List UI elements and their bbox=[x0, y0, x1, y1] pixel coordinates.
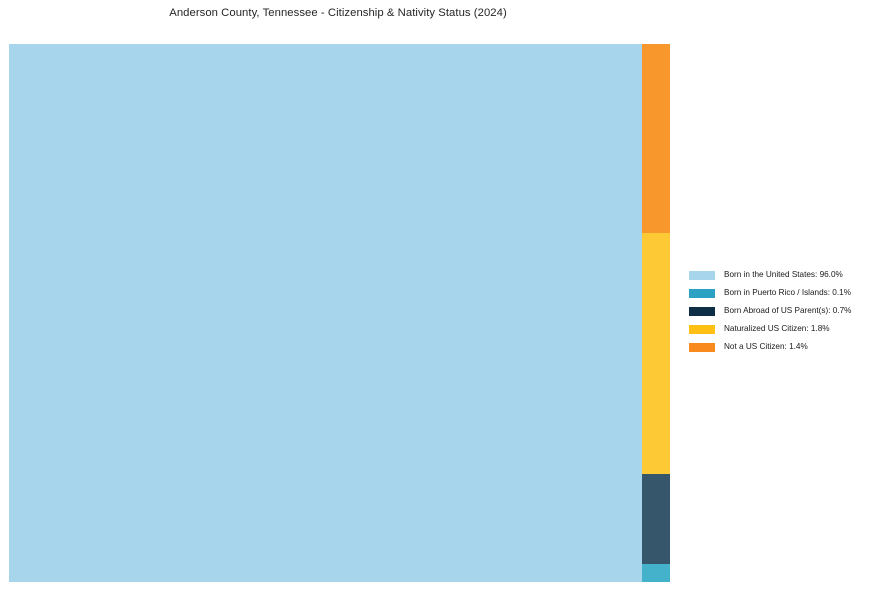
legend-swatch-icon bbox=[689, 307, 715, 316]
legend-item[interactable]: Born in the United States: 96.0% bbox=[689, 266, 881, 284]
treemap-tile[interactable] bbox=[9, 44, 642, 582]
treemap-chart-figure: Anderson County, Tennessee - Citizenship… bbox=[0, 0, 889, 590]
treemap-tile[interactable] bbox=[642, 474, 670, 564]
legend-item-label: Born Abroad of US Parent(s): 0.7% bbox=[724, 307, 851, 315]
treemap-tile[interactable] bbox=[642, 44, 670, 233]
legend-item[interactable]: Born in Puerto Rico / Islands: 0.1% bbox=[689, 284, 881, 302]
treemap-tile[interactable] bbox=[642, 564, 670, 582]
legend-swatch-icon bbox=[689, 343, 715, 352]
treemap-tile[interactable] bbox=[642, 233, 670, 474]
legend-item[interactable]: Naturalized US Citizen: 1.8% bbox=[689, 320, 881, 338]
chart-legend: Born in the United States: 96.0%Born in … bbox=[689, 266, 881, 356]
legend-swatch-icon bbox=[689, 271, 715, 280]
legend-item-label: Naturalized US Citizen: 1.8% bbox=[724, 325, 830, 333]
legend-item-label: Born in Puerto Rico / Islands: 0.1% bbox=[724, 289, 851, 297]
chart-title: Anderson County, Tennessee - Citizenship… bbox=[0, 7, 676, 19]
legend-swatch-icon bbox=[689, 325, 715, 334]
legend-item[interactable]: Born Abroad of US Parent(s): 0.7% bbox=[689, 302, 881, 320]
legend-item-label: Born in the United States: 96.0% bbox=[724, 271, 843, 279]
legend-item[interactable]: Not a US Citizen: 1.4% bbox=[689, 338, 881, 356]
legend-swatch-icon bbox=[689, 289, 715, 298]
legend-item-label: Not a US Citizen: 1.4% bbox=[724, 343, 808, 351]
treemap-plot-area bbox=[9, 44, 670, 582]
